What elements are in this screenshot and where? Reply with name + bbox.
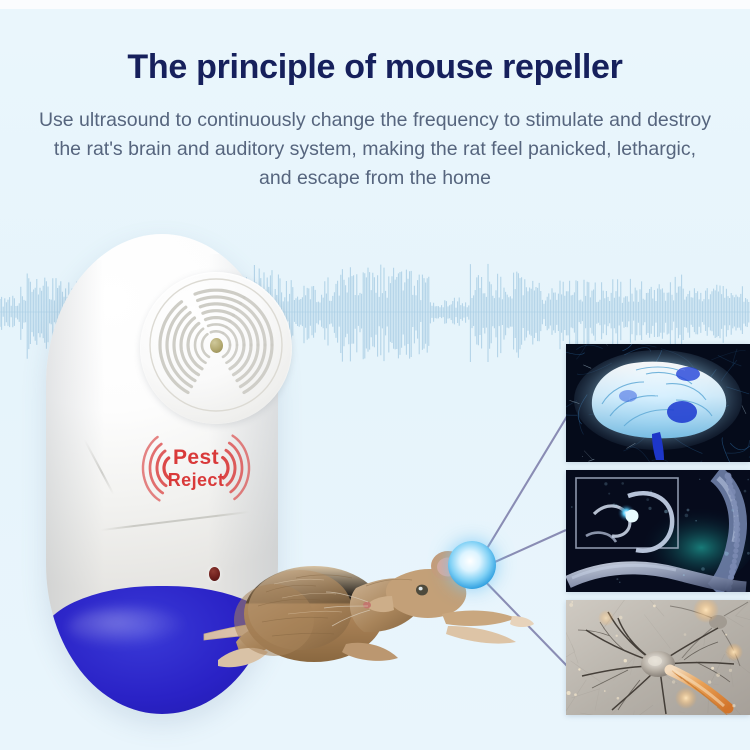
svg-text:Reject: Reject: [168, 470, 224, 490]
device-left-shading: [46, 260, 104, 620]
top-strip: [0, 0, 750, 9]
inset-synapse-image: [566, 470, 750, 592]
page-title: The principle of mouse repeller: [0, 48, 750, 87]
page-description: Use ultrasound to continuously change th…: [38, 106, 712, 193]
svg-text:Pest: Pest: [173, 446, 219, 469]
pest-reject-logo: Pest Reject: [138, 430, 254, 504]
sensor-dot-icon: [210, 338, 223, 353]
infographic-canvas: The principle of mouse repeller Use ultr…: [0, 0, 750, 750]
device-base-highlight: [68, 606, 188, 648]
inset-neuron-cell-image: [566, 600, 750, 715]
speaker-grille: [140, 272, 292, 424]
inset-brain-image: [566, 344, 750, 462]
ultrasound-glow-orb: [448, 541, 496, 589]
